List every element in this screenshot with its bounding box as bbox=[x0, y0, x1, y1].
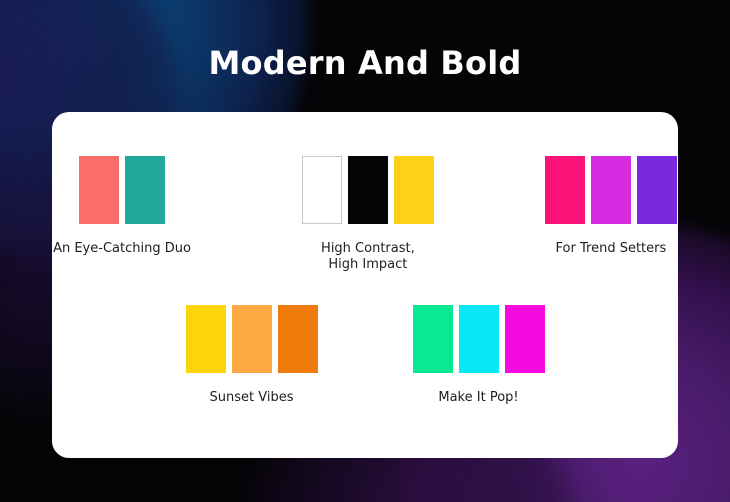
color-swatch[interactable] bbox=[186, 305, 226, 373]
color-swatch[interactable] bbox=[79, 156, 119, 224]
color-swatch[interactable] bbox=[232, 305, 272, 373]
color-swatch[interactable] bbox=[637, 156, 677, 224]
color-swatch[interactable] bbox=[591, 156, 631, 224]
swatch-group bbox=[186, 305, 318, 373]
palette-an-eye-catching-duo[interactable]: An Eye-Catching Duo bbox=[53, 156, 191, 257]
color-swatch[interactable] bbox=[505, 305, 545, 373]
palette-for-trend-setters[interactable]: For Trend Setters bbox=[545, 156, 677, 257]
color-swatch[interactable] bbox=[302, 156, 342, 224]
palette-make-it-pop[interactable]: Make It Pop! bbox=[413, 305, 545, 406]
palette-label: For Trend Setters bbox=[556, 241, 667, 257]
palette-row-top: An Eye-Catching DuoHigh Contrast, High I… bbox=[52, 156, 678, 273]
palette-card: An Eye-Catching DuoHigh Contrast, High I… bbox=[52, 112, 678, 458]
color-swatch[interactable] bbox=[545, 156, 585, 224]
slide-canvas: Modern And Bold An Eye-Catching DuoHigh … bbox=[0, 0, 730, 502]
palette-sunset-vibes[interactable]: Sunset Vibes bbox=[186, 305, 318, 406]
palette-label: An Eye-Catching Duo bbox=[53, 241, 191, 257]
page-title: Modern And Bold bbox=[0, 44, 730, 82]
color-swatch[interactable] bbox=[459, 305, 499, 373]
palette-high-contrast-high-impact[interactable]: High Contrast, High Impact bbox=[302, 156, 434, 273]
palette-label: Make It Pop! bbox=[438, 390, 518, 406]
palette-row-bottom: Sunset VibesMake It Pop! bbox=[52, 305, 678, 406]
color-swatch[interactable] bbox=[413, 305, 453, 373]
palette-label: Sunset Vibes bbox=[210, 390, 294, 406]
color-swatch[interactable] bbox=[278, 305, 318, 373]
palette-label: High Contrast, High Impact bbox=[321, 241, 415, 273]
swatch-group bbox=[413, 305, 545, 373]
swatch-group bbox=[302, 156, 434, 224]
palette-rows: An Eye-Catching DuoHigh Contrast, High I… bbox=[52, 112, 678, 458]
swatch-group bbox=[545, 156, 677, 224]
color-swatch[interactable] bbox=[125, 156, 165, 224]
swatch-group bbox=[79, 156, 165, 224]
color-swatch[interactable] bbox=[348, 156, 388, 224]
color-swatch[interactable] bbox=[394, 156, 434, 224]
